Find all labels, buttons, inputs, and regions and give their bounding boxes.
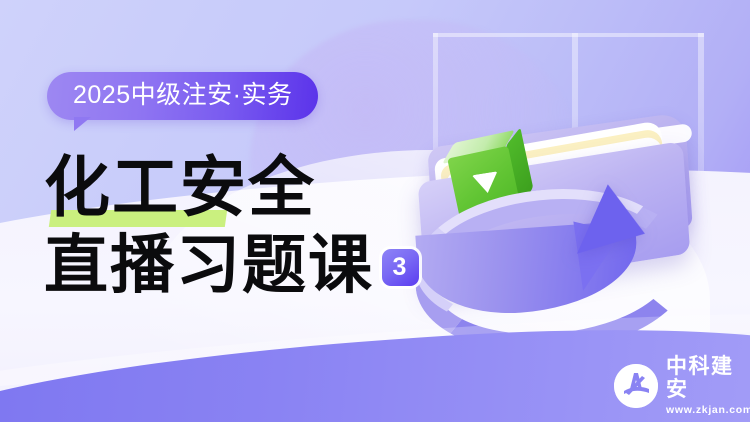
brand-url: www.zkjan.com [666,403,750,417]
episode-number-badge: 3 [382,249,419,286]
brand-logo: 中科建安 www.zkjan.com [614,355,750,417]
banner-headline: 化工安全 直播习题课3 [44,150,419,304]
course-banner: 2025中级注安·实务 化工安全 直播习题课3 中科建安 www.zkjan.c… [0,0,750,422]
headline-line-2: 直播习题课3 [44,228,419,304]
background-pillar-top-rail [433,33,704,37]
headline-line-1-text: 化工安全 [44,152,316,225]
course-category-badge: 2025中级注安·实务 [47,72,318,120]
headline-line-1: 化工安全 [44,150,419,228]
brand-logo-text: 中科建安 www.zkjan.com [666,355,750,417]
folder-illustration [420,100,750,350]
speech-bubble-tail-icon [74,117,91,131]
brand-name: 中科建安 [666,355,750,401]
zkjan-circle-logo-icon [614,364,658,408]
play-triangle-icon [472,171,501,195]
headline-line-2-text: 直播习题课 [44,230,374,301]
course-category-label: 2025中级注安·实务 [47,72,318,120]
